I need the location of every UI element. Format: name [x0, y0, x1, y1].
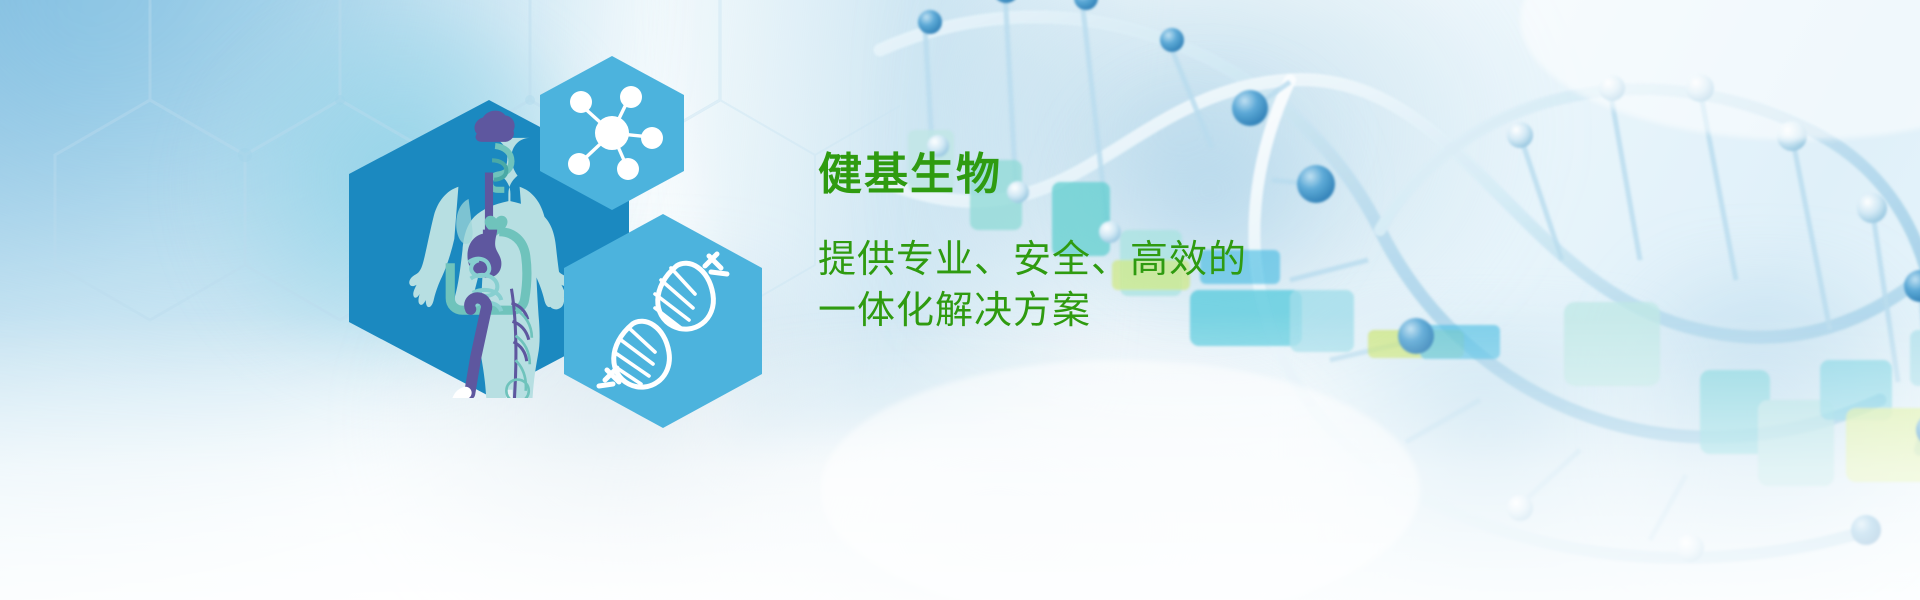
badge-dna[interactable]: [559, 212, 767, 430]
subtitle-line-1: 提供专业、安全、高效的: [818, 235, 1247, 286]
dna-helix-icon: [559, 212, 767, 430]
subtitle-line-2: 一体化解决方案: [818, 286, 1247, 337]
hero-text-block: 健基生物 提供专业、安全、高效的 一体化解决方案: [818, 150, 1247, 337]
badge-molecule[interactable]: [537, 54, 687, 212]
page-title: 健基生物: [818, 150, 1247, 199]
molecule-icon: [537, 54, 687, 212]
page-subtitle: 提供专业、安全、高效的 一体化解决方案: [818, 235, 1247, 337]
hero-banner: 健基生物 提供专业、安全、高效的 一体化解决方案: [0, 0, 1920, 600]
